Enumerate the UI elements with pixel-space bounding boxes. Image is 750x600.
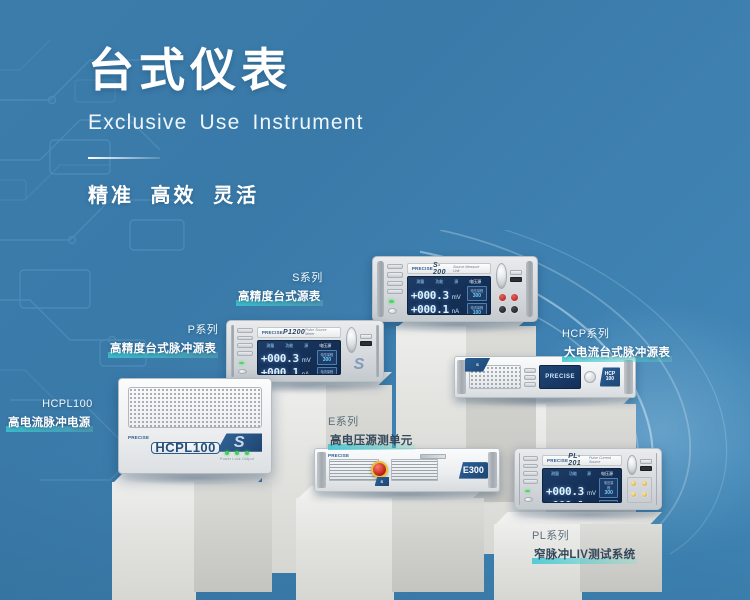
softkey-3[interactable] xyxy=(387,281,403,286)
range-box-voltage: 电压量程 300 xyxy=(599,478,618,498)
aux-port-icon[interactable] xyxy=(510,277,522,282)
instrument-s-series[interactable]: PRECISE S-200 Source Measure Unit 测量 功能 … xyxy=(372,256,538,322)
model-subtitle-s: Source Measure Unit xyxy=(453,265,486,273)
softkey-column[interactable] xyxy=(386,261,404,317)
label-hcpl100-name: HCPL100 xyxy=(6,396,93,413)
rotary-knob[interactable] xyxy=(627,455,637,475)
hcp-model-badge: HCP 100 xyxy=(600,367,621,386)
e300-vent-right xyxy=(391,459,438,481)
handle-left-icon xyxy=(377,261,384,317)
shadow-pl-series xyxy=(512,508,662,522)
range-label-voltage: 电压量程 xyxy=(602,480,615,490)
softkey-1[interactable] xyxy=(387,264,403,269)
brand-mark: PRECISE xyxy=(547,458,568,463)
lcd-tab-0[interactable]: 测量 xyxy=(416,279,424,285)
lcd-tab-3[interactable]: 电压源 xyxy=(469,279,481,285)
lcd-tab-bar[interactable]: 测量 功能 源 电压源 xyxy=(261,343,337,350)
label-hcp-series: HCP系列 大电流台式脉冲源表 xyxy=(562,326,672,361)
softkey-3[interactable] xyxy=(523,471,538,476)
lcd-tab-1[interactable]: 功能 xyxy=(435,279,443,285)
lcd-readouts: +000.3 mV +000.1 nA xyxy=(261,350,314,375)
lcd-tab-1[interactable]: 功能 xyxy=(285,343,293,349)
handle-right-icon xyxy=(526,261,533,317)
reading-current: +000.1 xyxy=(546,499,584,503)
lcd-tab-3[interactable]: 电压源 xyxy=(319,343,331,349)
lcd-tab-0[interactable]: 测量 xyxy=(266,343,274,349)
unit-current: nA xyxy=(302,372,309,375)
handle-right-icon xyxy=(376,325,379,377)
hcpl100-corner-badge: S xyxy=(216,433,262,451)
hcp-button-2[interactable] xyxy=(524,375,536,380)
range-value-current: 100 xyxy=(470,310,484,315)
label-s-series: S系列 高精度台式源表 xyxy=(236,270,323,305)
terminal-sense-hi[interactable] xyxy=(510,293,519,302)
usb-port-icon[interactable] xyxy=(510,270,522,275)
rotary-knob[interactable] xyxy=(346,327,357,353)
model-subtitle-pl: Pulse Current Source xyxy=(589,456,617,464)
range-value-voltage: 300 xyxy=(602,490,615,496)
instrument-hcp-series[interactable]: PRECISE HCP 100 S xyxy=(454,356,636,398)
power-button[interactable] xyxy=(238,369,247,374)
status-led-icon xyxy=(389,300,394,303)
control-pane[interactable]: S xyxy=(344,325,374,377)
range-label-current: 电流量程 xyxy=(320,369,334,374)
lcd-tab-0[interactable]: 测量 xyxy=(551,471,559,477)
hcpl100-led-caption: Power Lock Output xyxy=(220,457,254,461)
lcd-tab-bar[interactable]: 测量 功能 源 电压源 xyxy=(411,279,487,286)
hcp-display[interactable]: PRECISE xyxy=(539,365,582,389)
bnc-connector-4[interactable] xyxy=(641,491,648,498)
e300-brand-mark: PRECISE xyxy=(328,453,349,458)
label-s-series-name: S系列 xyxy=(236,270,323,287)
hcp-knob[interactable] xyxy=(584,371,596,383)
hcpl100-nameplate: HCPL100 xyxy=(151,442,221,455)
reading-current: +000.1 xyxy=(411,303,449,315)
instrument-p-series[interactable]: PRECISE P1200 Pulse Source Meter 测量 功能 源… xyxy=(226,320,384,382)
range-label-voltage: 电压量程 xyxy=(320,352,334,357)
e300-model-text: E300 xyxy=(463,465,484,475)
bnc-connector-1[interactable] xyxy=(630,480,637,487)
softkey-2[interactable] xyxy=(237,336,253,341)
readout-current-row: +000.1 nA xyxy=(411,303,464,315)
page-title-en: Exclusive Use Instrument xyxy=(88,111,364,135)
readout-voltage-row: +000.3 mV xyxy=(546,485,596,498)
status-led-icon xyxy=(525,490,530,492)
softkey-1[interactable] xyxy=(237,328,253,333)
power-button[interactable] xyxy=(388,308,397,314)
range-box-voltage: 电压量程 300 xyxy=(467,286,487,301)
range-value-voltage: 300 xyxy=(320,357,334,363)
aux-port-icon[interactable] xyxy=(360,341,372,346)
hcp-model-number: 100 xyxy=(606,377,614,382)
hcpl100-logo-icon: S xyxy=(234,434,245,452)
lcd-tab-2[interactable]: 源 xyxy=(454,279,458,285)
led-lock-icon xyxy=(235,451,239,455)
banner-root: 台式仪表 Exclusive Use Instrument 精准 高效 灵活 xyxy=(0,0,750,600)
lcd-range-panel: 电压量程 300 电流量程 100 xyxy=(317,350,337,375)
softkey-2[interactable] xyxy=(523,464,538,469)
terminal-force-lo[interactable] xyxy=(498,305,507,314)
emergency-stop-button[interactable] xyxy=(371,461,388,478)
terminal-force-hi[interactable] xyxy=(498,293,507,302)
lcd-screen[interactable]: 测量 功能 源 电压源 +000.3 mV xyxy=(542,468,622,503)
unit-current: nA xyxy=(452,309,459,315)
lcd-screen[interactable]: 测量 功能 源 电压源 +000.3 mV xyxy=(257,340,341,375)
terminal-block[interactable] xyxy=(496,291,522,316)
label-pl-series: PL系列 窄脉冲LIV测试系统 xyxy=(532,528,637,563)
hcpl100-brand-mark: PRECISE xyxy=(128,435,149,440)
header-block: 台式仪表 Exclusive Use Instrument 精准 高效 灵活 xyxy=(88,44,364,208)
model-name-s: S-200 xyxy=(433,262,453,276)
aux-port-icon[interactable] xyxy=(640,466,652,471)
handle-right-icon xyxy=(656,453,657,505)
model-subtitle-p: Pulse Source Meter xyxy=(305,328,335,336)
lcd-tab-2[interactable]: 源 xyxy=(587,471,591,477)
lcd-range-panel: 电压量程 300 电流量程 100 xyxy=(599,478,618,503)
softkey-1[interactable] xyxy=(523,456,538,461)
lcd-range-panel: 电压量程 300 电流量程 100 xyxy=(467,286,487,315)
hcp-display-brand: PRECISE xyxy=(545,374,575,380)
softkey-column[interactable] xyxy=(236,325,254,377)
softkey-4[interactable] xyxy=(523,479,538,484)
reading-voltage: +000.3 xyxy=(261,352,299,365)
rack-ear-right-icon xyxy=(624,360,633,394)
pedestal-e-series xyxy=(296,486,486,600)
hcp-button-3[interactable] xyxy=(524,382,536,387)
reading-voltage: +000.3 xyxy=(546,485,584,498)
e300-logo-icon: S xyxy=(381,479,384,484)
hcp-button-1[interactable] xyxy=(524,368,536,373)
brand-bar: PRECISE P1200 Pulse Source Meter xyxy=(257,327,341,338)
softkey-column[interactable] xyxy=(522,453,539,505)
label-s-series-desc: 高精度台式源表 xyxy=(236,289,323,305)
power-button[interactable] xyxy=(524,497,533,502)
bnc-connector-3[interactable] xyxy=(630,491,637,498)
label-e-series-name: E系列 xyxy=(328,414,415,431)
label-hcpl100-desc: 高电流脉冲电源 xyxy=(6,415,93,431)
page-tagline: 精准 高效 灵活 xyxy=(88,179,364,208)
softkey-3[interactable] xyxy=(237,343,253,348)
readout-current-row: +000.1 nA xyxy=(546,499,596,503)
lcd-readouts: +000.3 mV +000.1 nA xyxy=(411,286,464,315)
brand-logo-s-icon: S xyxy=(354,356,365,374)
model-name-pl: PL-201 xyxy=(568,453,589,467)
unit-voltage: mV xyxy=(302,358,311,364)
softkey-4[interactable] xyxy=(237,351,253,356)
label-pl-series-desc: 窄脉冲LIV测试系统 xyxy=(532,547,637,563)
rack-ear-left-icon xyxy=(457,360,466,394)
unit-voltage: mV xyxy=(452,295,461,301)
range-box-current: 电流量程 100 xyxy=(467,303,487,315)
control-pane[interactable] xyxy=(625,453,654,505)
readout-voltage-row: +000.3 mV xyxy=(411,289,464,302)
range-box-voltage: 电压量程 300 xyxy=(317,350,337,365)
softkey-2[interactable] xyxy=(387,272,403,277)
lcd-tab-1[interactable]: 功能 xyxy=(569,471,577,477)
label-hcpl100: HCPL100 高电流脉冲电源 xyxy=(6,396,93,431)
instrument-hcpl100[interactable]: PRECISE S HCPL100 Power Lock Output xyxy=(118,378,272,474)
softkey-4[interactable] xyxy=(387,289,403,294)
label-pl-series-name: PL系列 xyxy=(532,528,637,545)
label-hcp-series-name: HCP系列 xyxy=(562,326,672,343)
lcd-readouts: +000.3 mV +000.1 nA xyxy=(546,478,596,503)
bnc-connector-2[interactable] xyxy=(641,480,648,487)
unit-voltage: mV xyxy=(587,491,596,497)
terminal-sense-lo[interactable] xyxy=(510,305,519,314)
label-p-series-name: P系列 xyxy=(108,322,218,339)
range-box-current: 电流量程 100 xyxy=(599,500,618,503)
brand-mark: PRECISE xyxy=(262,330,283,335)
lcd-screen[interactable]: 测量 功能 源 电压源 +000.3 mV xyxy=(407,276,491,315)
usb-port-icon[interactable] xyxy=(360,334,372,339)
label-p-series-desc: 高精度台式脉冲源表 xyxy=(108,341,218,357)
title-divider xyxy=(88,157,160,159)
lcd-tab-3[interactable]: 电压源 xyxy=(601,471,613,477)
instrument-e-series[interactable]: PRECISE E300 S xyxy=(314,448,500,492)
page-title-cn: 台式仪表 xyxy=(88,44,364,97)
lcd-tab-2[interactable]: 源 xyxy=(304,343,308,349)
hcpl100-vent-grille xyxy=(128,387,262,428)
label-e-series-desc: 高电压源测单元 xyxy=(328,433,415,449)
rack-ear-left-icon xyxy=(317,452,326,488)
rack-ear-right-icon xyxy=(488,452,497,488)
range-value-current: 100 xyxy=(320,374,334,375)
control-pane[interactable] xyxy=(494,261,524,317)
lcd-tab-bar[interactable]: 测量 功能 源 电压源 xyxy=(546,471,618,478)
label-p-series: P系列 高精度台式脉冲源表 xyxy=(108,322,218,357)
bnc-terminal-block[interactable] xyxy=(627,477,652,503)
e300-model-badge: E300 xyxy=(459,462,488,479)
pedestal-hcpl100 xyxy=(112,468,272,600)
rotary-knob[interactable] xyxy=(496,263,507,289)
reading-current: +000.1 xyxy=(261,366,299,375)
label-e-series: E系列 高电压源测单元 xyxy=(328,414,415,449)
hcpl100-led-group: Power Lock Output xyxy=(220,451,254,461)
range-value-voltage: 300 xyxy=(470,293,484,299)
brand-bar: PRECISE PL-201 Pulse Current Source xyxy=(542,455,622,466)
reading-voltage: +000.3 xyxy=(411,289,449,302)
status-led-icon xyxy=(239,362,244,364)
brand-bar: PRECISE S-200 Source Measure Unit xyxy=(407,263,491,274)
usb-port-icon[interactable] xyxy=(640,459,652,464)
range-box-current: 电流量程 100 xyxy=(317,367,337,375)
model-name-p: P1200 xyxy=(283,329,305,336)
hcp-corner-logo-icon: S xyxy=(476,362,479,367)
readout-voltage-row: +000.3 mV xyxy=(261,352,314,365)
led-power-icon xyxy=(225,451,229,455)
label-hcp-series-desc: 大电流台式脉冲源表 xyxy=(562,345,672,361)
readout-current-row: +000.1 nA xyxy=(261,366,314,375)
e300-indicator-strip xyxy=(420,454,446,459)
range-label-current: 电流量程 xyxy=(602,502,615,503)
brand-mark: PRECISE xyxy=(412,266,433,271)
led-output-icon xyxy=(245,451,249,455)
instrument-pl-series[interactable]: PRECISE PL-201 Pulse Current Source 测量 功… xyxy=(514,448,662,510)
